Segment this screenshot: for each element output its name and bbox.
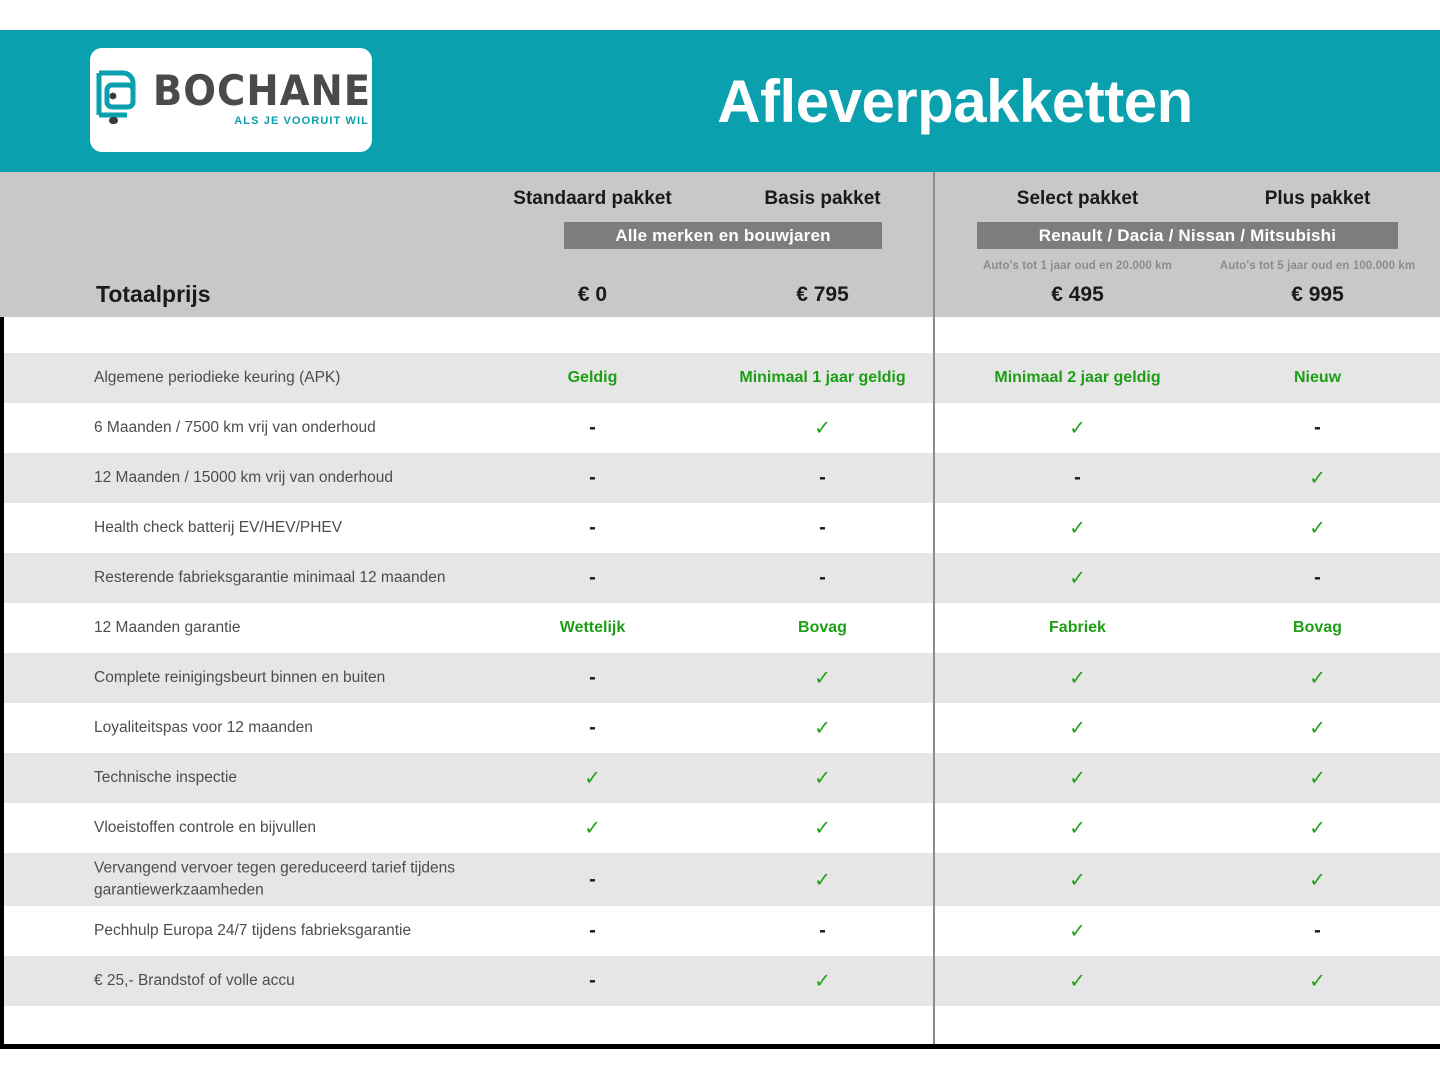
left-edge-rule (0, 317, 4, 1048)
table-row: Technische inspectie✓✓✓✓ (0, 753, 1440, 803)
cell-dash: - (955, 467, 1200, 490)
cell-check: ✓ (700, 666, 945, 691)
cell-check: ✓ (1195, 716, 1440, 741)
totaalprijs-label: Totaalprijs (96, 281, 211, 308)
table-row: Complete reinigingsbeurt binnen en buite… (0, 653, 1440, 703)
page-title: Afleverpakketten (470, 30, 1440, 172)
price-plus: € 995 (1195, 283, 1440, 307)
table-row: Loyaliteitspas voor 12 maanden-✓✓✓ (0, 703, 1440, 753)
cell-check: ✓ (955, 416, 1200, 441)
cell-check: ✓ (1195, 666, 1440, 691)
table-row: Vervangend vervoer tegen gereduceerd tar… (0, 853, 1440, 906)
cell-check: ✓ (700, 867, 945, 892)
column-name-standaard: Standaard pakket (470, 188, 715, 210)
cell-dash: - (470, 567, 715, 590)
feature-table: Algemene periodieke keuring (APK)GeldigM… (0, 317, 1440, 1048)
cell-dash: - (700, 517, 945, 540)
cell-dash: - (700, 567, 945, 590)
cell-check: ✓ (955, 716, 1200, 741)
table-row: 12 Maanden garantieWettelijkBovagFabriek… (0, 603, 1440, 653)
row-label: € 25,- Brandstof of volle accu (94, 970, 514, 992)
cell-check: ✓ (955, 867, 1200, 892)
cell-word: Bovag (1195, 619, 1440, 637)
cell-check: ✓ (955, 919, 1200, 944)
column-header-band: Standaard pakket Basis pakket Select pak… (0, 172, 1440, 317)
row-label: 12 Maanden / 15000 km vrij van onderhoud (94, 467, 514, 489)
cell-dash: - (470, 667, 715, 690)
cell-check: ✓ (1195, 516, 1440, 541)
cell-check: ✓ (955, 516, 1200, 541)
column-name-plus: Plus pakket (1195, 188, 1440, 210)
cell-check: ✓ (1195, 867, 1440, 892)
row-label: Algemene periodieke keuring (APK) (94, 367, 514, 389)
group-pill-left: Alle merken en bouwjaren (564, 222, 882, 249)
row-label: 12 Maanden garantie (94, 617, 514, 639)
cell-word: Minimaal 2 jaar geldig (955, 369, 1200, 387)
row-label: Resterende fabrieksgarantie minimaal 12 … (94, 567, 514, 589)
cell-dash: - (470, 970, 715, 993)
cell-word: Geldig (470, 369, 715, 387)
cell-check: ✓ (955, 766, 1200, 791)
bottom-rule (0, 1044, 1440, 1049)
brand-logo-card: BOCHANE ALS JE VOORUIT WIL (90, 48, 372, 152)
table-row: Algemene periodieke keuring (APK)GeldigM… (0, 353, 1440, 403)
cell-check: ✓ (1195, 969, 1440, 994)
cell-dash: - (470, 868, 715, 891)
column-sub-plus: Auto's tot 5 jaar oud en 100.000 km (1195, 260, 1440, 272)
cell-word: Minimaal 1 jaar geldig (700, 369, 945, 387)
cell-dash: - (470, 517, 715, 540)
table-row: Vloeistoffen controle en bijvullen✓✓✓✓ (0, 803, 1440, 853)
table-row: 6 Maanden / 7500 km vrij van onderhoud-✓… (0, 403, 1440, 453)
cell-dash: - (1195, 567, 1440, 590)
price-select: € 495 (955, 283, 1200, 307)
cell-word: Fabriek (955, 619, 1200, 637)
brand-wordmark: BOCHANE (153, 70, 371, 112)
cell-check: ✓ (700, 416, 945, 441)
cell-dash: - (470, 417, 715, 440)
bochane-monogram-icon (93, 67, 145, 129)
row-label: Vloeistoffen controle en bijvullen (94, 817, 514, 839)
cell-check: ✓ (700, 766, 945, 791)
row-label: Loyaliteitspas voor 12 maanden (94, 717, 514, 739)
row-label: Pechhulp Europa 24/7 tijdens fabrieksgar… (94, 920, 514, 942)
row-label: Vervangend vervoer tegen gereduceerd tar… (94, 857, 514, 902)
price-standaard: € 0 (470, 283, 715, 307)
group-pill-right: Renault / Dacia / Nissan / Mitsubishi (977, 222, 1398, 249)
cell-dash: - (470, 717, 715, 740)
cell-dash: - (470, 920, 715, 943)
poster-root: BOCHANE ALS JE VOORUIT WIL Afleverpakket… (0, 0, 1440, 1080)
cell-check: ✓ (1195, 766, 1440, 791)
cell-dash: - (700, 467, 945, 490)
cell-check: ✓ (700, 969, 945, 994)
column-group-divider (933, 172, 935, 1048)
cell-check: ✓ (1195, 466, 1440, 491)
table-row: Health check batterij EV/HEV/PHEV--✓✓ (0, 503, 1440, 553)
row-label: Health check batterij EV/HEV/PHEV (94, 517, 514, 539)
cell-word: Nieuw (1195, 369, 1440, 387)
cell-dash: - (700, 920, 945, 943)
price-basis: € 795 (700, 283, 945, 307)
cell-check: ✓ (470, 816, 715, 841)
table-row: 12 Maanden / 15000 km vrij van onderhoud… (0, 453, 1440, 503)
column-name-basis: Basis pakket (700, 188, 945, 210)
table-row: Pechhulp Europa 24/7 tijdens fabrieksgar… (0, 906, 1440, 956)
table-row: Resterende fabrieksgarantie minimaal 12 … (0, 553, 1440, 603)
row-label: Technische inspectie (94, 767, 514, 789)
column-sub-select: Auto's tot 1 jaar oud en 20.000 km (955, 260, 1200, 272)
cell-dash: - (1195, 417, 1440, 440)
cell-check: ✓ (955, 816, 1200, 841)
cell-dash: - (470, 467, 715, 490)
cell-check: ✓ (955, 969, 1200, 994)
row-label: 6 Maanden / 7500 km vrij van onderhoud (94, 417, 514, 439)
cell-word: Bovag (700, 619, 945, 637)
cell-check: ✓ (955, 566, 1200, 591)
column-name-select: Select pakket (955, 188, 1200, 210)
cell-check: ✓ (470, 766, 715, 791)
cell-word: Wettelijk (470, 619, 715, 637)
cell-check: ✓ (700, 816, 945, 841)
cell-check: ✓ (1195, 816, 1440, 841)
brand-tagline: ALS JE VOORUIT WIL (234, 116, 369, 127)
row-label: Complete reinigingsbeurt binnen en buite… (94, 667, 514, 689)
header-bar: BOCHANE ALS JE VOORUIT WIL Afleverpakket… (0, 30, 1440, 172)
table-row: € 25,- Brandstof of volle accu-✓✓✓ (0, 956, 1440, 1006)
cell-dash: - (1195, 920, 1440, 943)
cell-check: ✓ (955, 666, 1200, 691)
cell-check: ✓ (700, 716, 945, 741)
